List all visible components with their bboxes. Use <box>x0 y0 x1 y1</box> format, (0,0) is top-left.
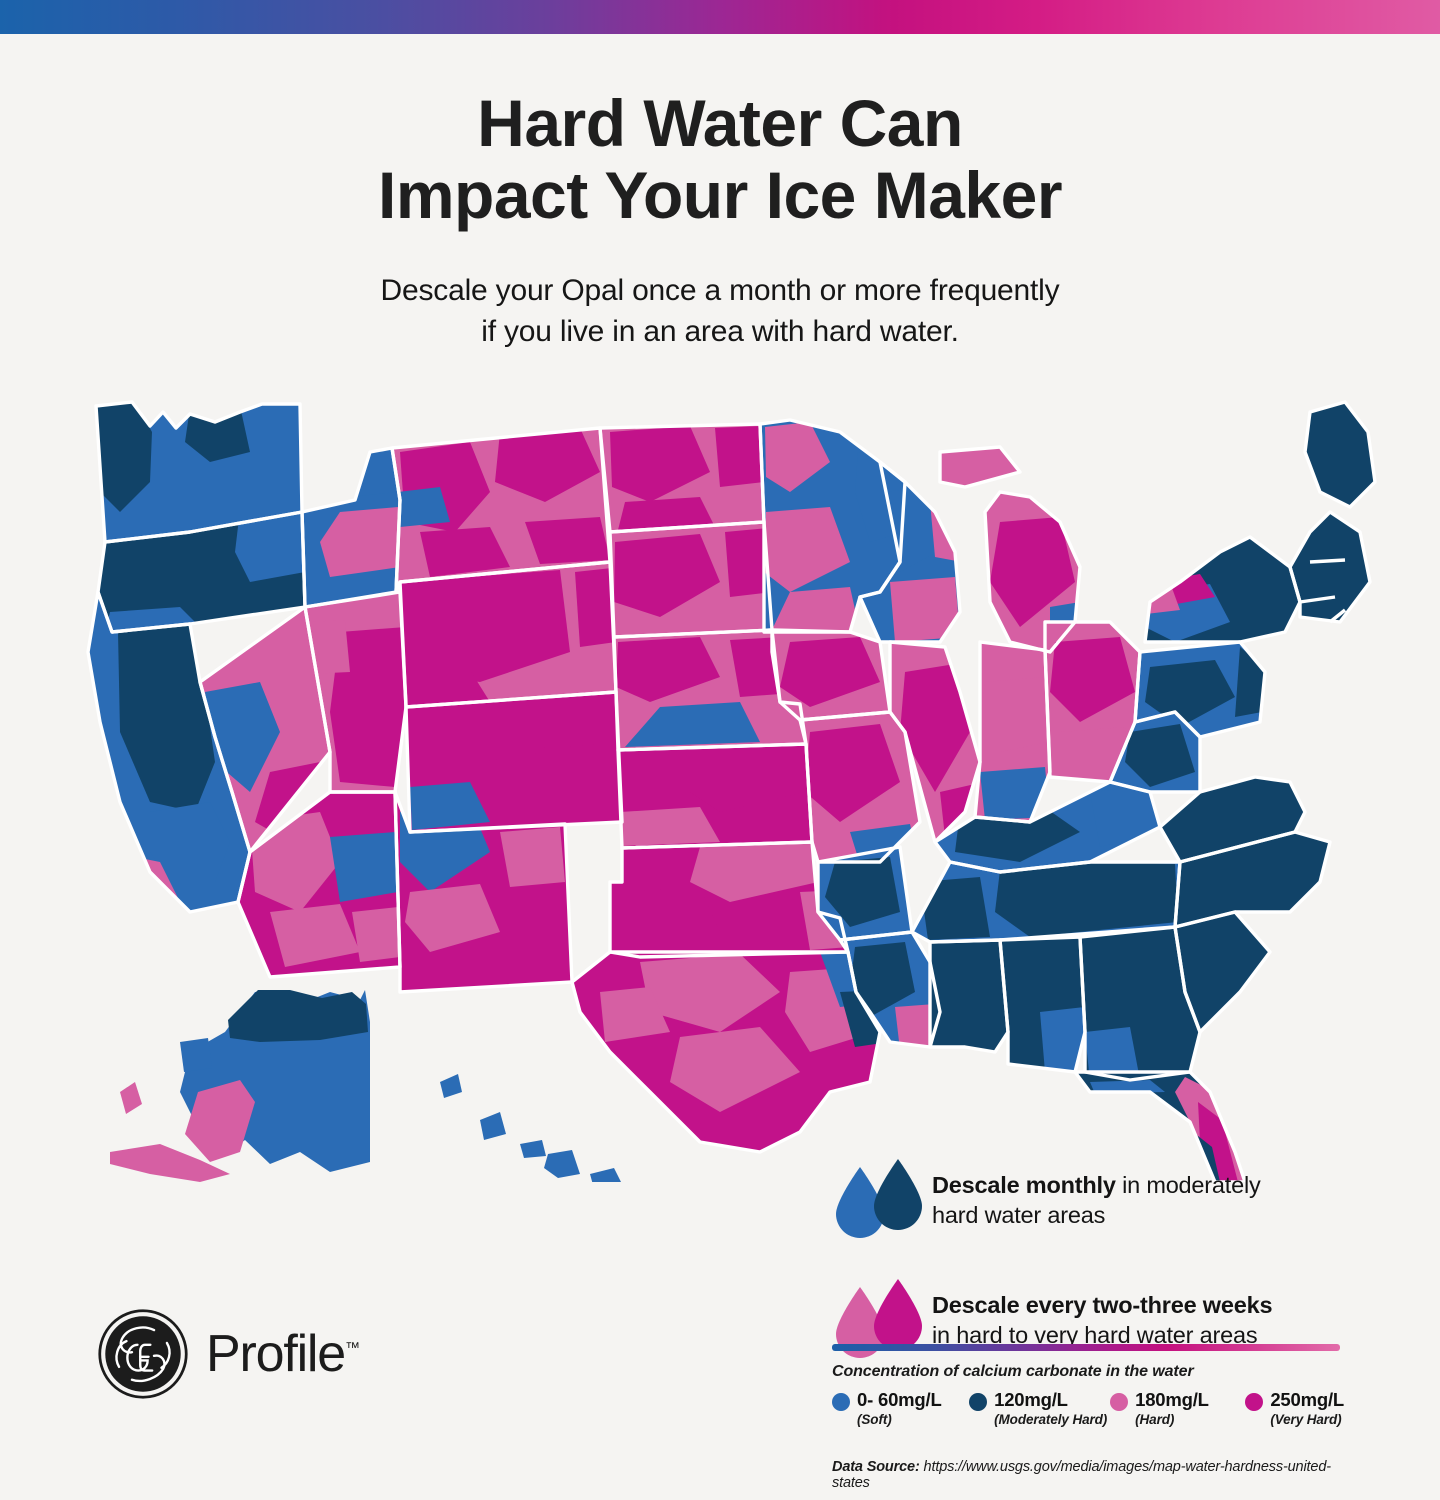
swatch-item-moderately-hard: 120mg/L (Moderately Hard) <box>969 1390 1110 1429</box>
data-source-label: Data Source: <box>832 1459 920 1475</box>
swatch-dot-soft <box>832 1393 850 1411</box>
swatch-value-moderately-hard: 120mg/L <box>994 1389 1068 1410</box>
page-title-line-2: Impact Your Ice Maker <box>0 160 1440 232</box>
profile-wordmark: Profile™ <box>206 1328 360 1380</box>
concentration-scale-legend: Concentration of calcium carbonate in th… <box>832 1344 1344 1491</box>
profile-wordmark-text: Profile <box>206 1325 345 1383</box>
us-water-hardness-map <box>0 392 1440 1182</box>
water-droplet-moderately-hard-icon <box>870 1158 926 1232</box>
page-subtitle-line-2: if you live in an area with hard water. <box>481 315 958 348</box>
swatch-item-soft: 0- 60mg/L (Soft) <box>832 1390 969 1429</box>
ge-monogram-icon <box>97 1308 189 1400</box>
hardness-gradient-bar <box>832 1344 1340 1351</box>
ge-profile-logo: Profile™ <box>97 1308 360 1400</box>
legend-bold-moderate: Descale monthly <box>932 1172 1116 1198</box>
swatch-dot-moderately-hard <box>969 1393 987 1411</box>
legend-bold-hard: Descale every two-three weeks <box>932 1292 1272 1318</box>
legend-text-hard: Descale every two-three weeks in hard to… <box>932 1291 1272 1350</box>
page-subtitle: Descale your Opal once a month or more f… <box>0 232 1440 353</box>
legend-text-moderate: Descale monthly in moderately hard water… <box>932 1171 1261 1230</box>
swatch-dot-hard <box>1110 1393 1128 1411</box>
legend-line2-moderate: hard water areas <box>932 1202 1105 1228</box>
header-block: Hard Water Can Impact Your Ice Maker Des… <box>0 88 1440 353</box>
swatch-item-hard: 180mg/L (Hard) <box>1110 1390 1245 1429</box>
swatch-item-very-hard: 250mg/L (Very Hard) <box>1245 1390 1344 1429</box>
swatch-label-very-hard: (Very Hard) <box>1270 1412 1341 1427</box>
page-subtitle-line-1: Descale your Opal once a month or more f… <box>381 274 1060 307</box>
hawaii <box>440 1074 680 1182</box>
water-droplet-very-hard-icon <box>870 1278 926 1352</box>
legend-row-moderate: Descale monthly in moderately hard water… <box>832 1158 1352 1244</box>
swatch-value-hard: 180mg/L <box>1135 1389 1209 1410</box>
swatch-label-hard: (Hard) <box>1135 1412 1174 1427</box>
swatch-label-soft: (Soft) <box>857 1412 892 1427</box>
data-source: Data Source: https://www.usgs.gov/media/… <box>832 1459 1344 1491</box>
concentration-caption: Concentration of calcium carbonate in th… <box>832 1363 1344 1381</box>
swatch-value-soft: 0- 60mg/L <box>857 1389 942 1410</box>
map-landmass <box>80 392 1385 1182</box>
swatch-value-very-hard: 250mg/L <box>1270 1389 1344 1410</box>
page-title-line-1: Hard Water Can <box>0 88 1440 160</box>
top-gradient-bar <box>0 0 1440 34</box>
swatch-list: 0- 60mg/L (Soft) 120mg/L (Moderately Har… <box>832 1390 1344 1429</box>
droplet-pair-blue <box>832 1158 932 1244</box>
legend-rest-moderate: in moderately <box>1116 1172 1261 1198</box>
swatch-label-moderately-hard: (Moderately Hard) <box>994 1412 1107 1427</box>
alaska <box>110 990 370 1182</box>
trademark-symbol: ™ <box>345 1340 360 1357</box>
swatch-dot-very-hard <box>1245 1393 1263 1411</box>
